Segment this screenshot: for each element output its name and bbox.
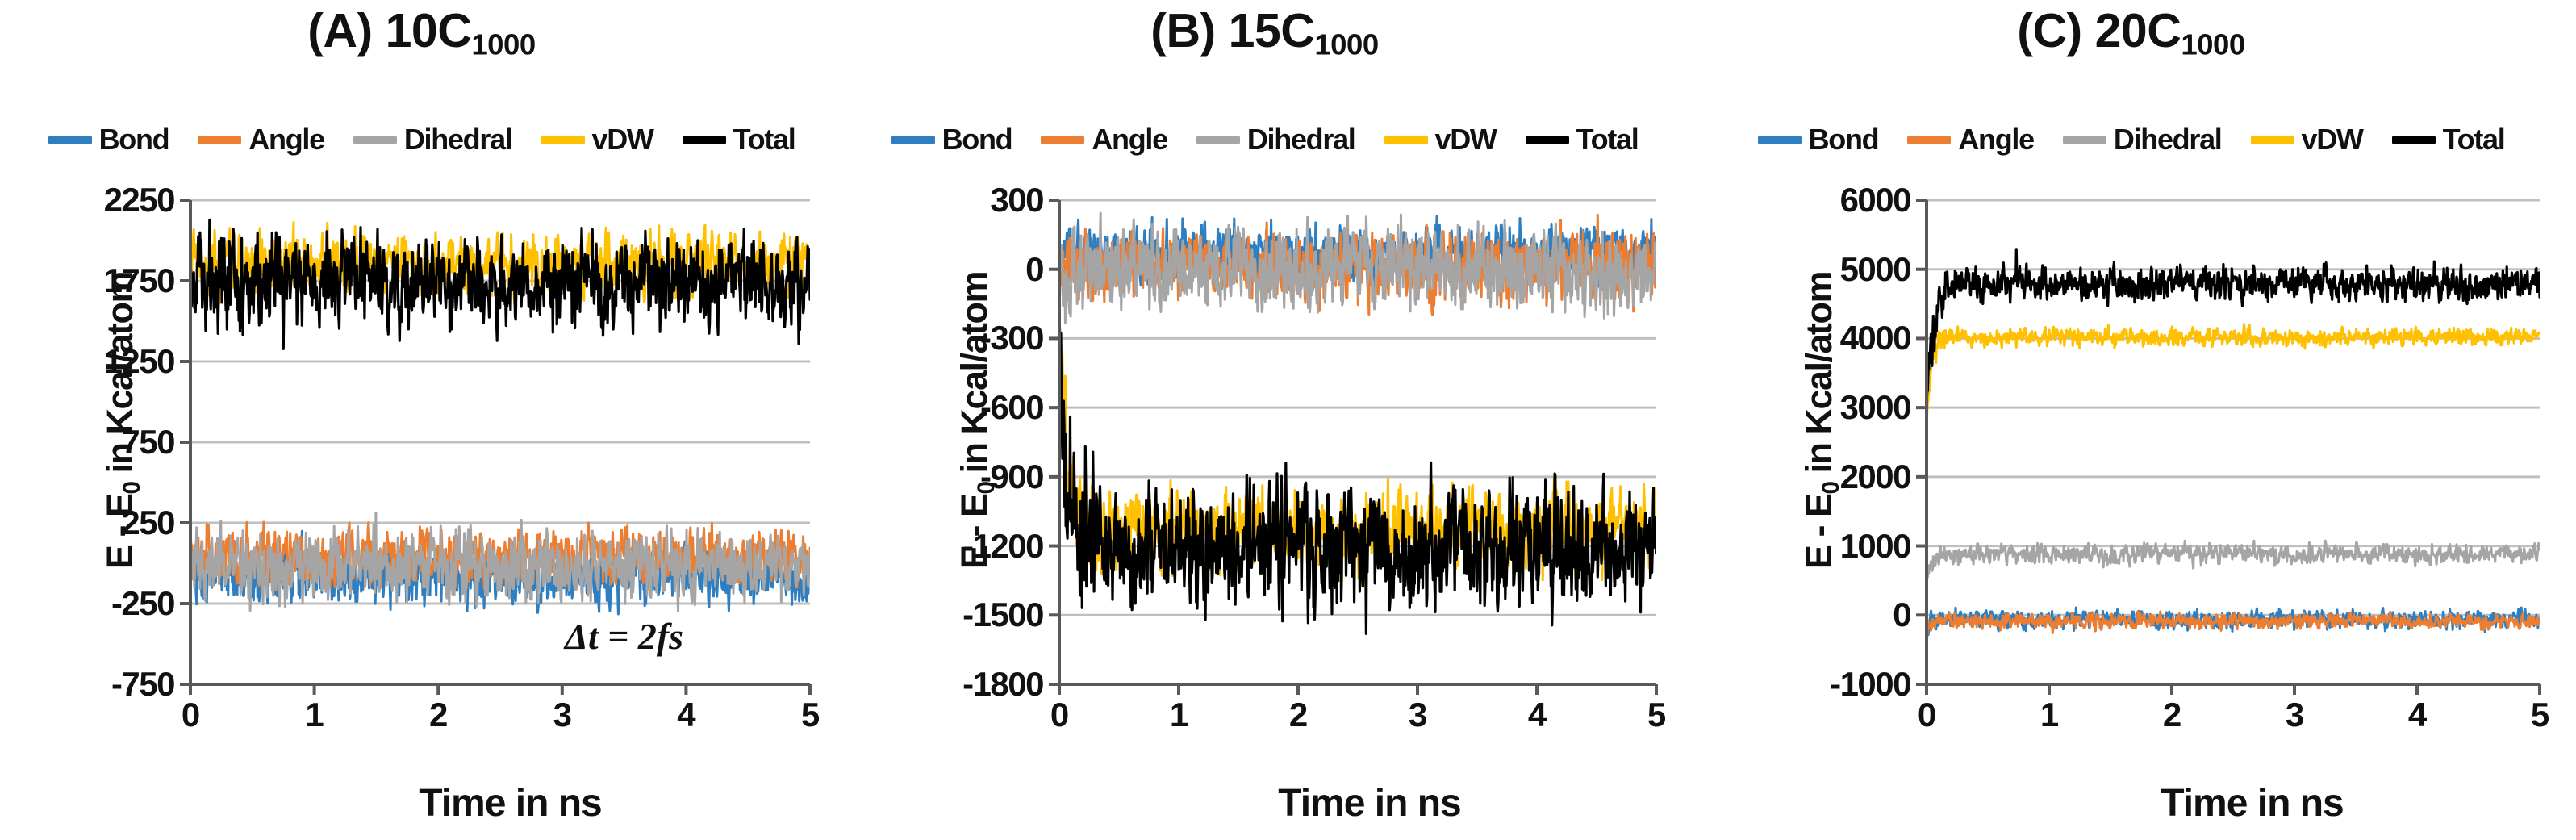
y-tick-label: 4000 (1840, 319, 1910, 357)
legend-panel-c: Bond Angle Dihedral vDW Total (1686, 123, 2576, 157)
y-tick-label: -250 (111, 584, 174, 623)
x-tick-label: 4 (1528, 696, 1546, 734)
plot-canvas-A (190, 200, 810, 684)
plot-canvas-B (1059, 200, 1656, 684)
legend-label-angle: Angle (248, 123, 324, 157)
legend-label-dihedral: Dihedral (1247, 123, 1355, 157)
legend-swatch-angle-icon (1907, 136, 1951, 144)
x-tick-label: 4 (677, 696, 695, 734)
panel-a-x-axis-label: Time in ns (0, 781, 932, 825)
x-tick-label: 4 (2408, 696, 2426, 734)
panel-b-title-subscript: 1000 (1314, 28, 1378, 61)
panel-a-y-ticks: 225017501250750250-250-750 (16, 200, 174, 684)
legend-item-vdw: vDW (541, 123, 653, 157)
legend-swatch-total-icon (2392, 136, 2436, 144)
legend-panel-a: Bond Angle Dihedral vDW Total (0, 123, 843, 157)
legend-swatch-vdw-icon (2251, 136, 2294, 144)
legend-item-bond: Bond (1758, 123, 1879, 157)
legend-label-angle: Angle (1958, 123, 2034, 157)
plot-canvas-C (1927, 200, 2540, 684)
panel-c-x-ticks: 012345 (1927, 696, 2540, 744)
legend-label-bond: Bond (1809, 123, 1879, 157)
y-tick-label: -1800 (962, 665, 1043, 704)
series-line-vdw (1927, 324, 2540, 419)
legend-swatch-total-icon (683, 136, 726, 144)
legend-swatch-dihedral-icon (353, 136, 397, 144)
legend-item-angle: Angle (1041, 123, 1167, 157)
x-tick-label: 5 (1647, 696, 1665, 734)
x-tick-label: 5 (2531, 696, 2549, 734)
legend-label-vdw: vDW (2302, 123, 2363, 157)
legend-swatch-total-icon (1526, 136, 1569, 144)
figure-root: (A) 10C1000 Bond Angle Dihedral vDW Tota… (0, 0, 2576, 840)
x-tick-label: 2 (429, 696, 447, 734)
panel-b-plot-area (1059, 200, 1656, 684)
legend-label-total: Total (733, 123, 795, 157)
y-tick-label: 750 (121, 423, 174, 462)
x-tick-label: 1 (305, 696, 323, 734)
legend-swatch-vdw-icon (541, 136, 585, 144)
panel-b-x-ticks: 012345 (1059, 696, 1656, 744)
panel-b: (B) 15C1000 Bond Angle Dihedral vDW Tota… (843, 0, 1686, 840)
legend-panel-b: Bond Angle Dihedral vDW Total (843, 123, 1686, 157)
y-tick-label: -600 (980, 388, 1043, 427)
legend-item-total: Total (683, 123, 795, 157)
legend-swatch-bond-icon (48, 136, 92, 144)
y-tick-label: 0 (1893, 596, 1910, 634)
legend-label-dihedral: Dihedral (2114, 123, 2222, 157)
panel-b-y-ticks: 3000-300-600-900-1200-1500-1800 (880, 200, 1043, 684)
legend-item-angle: Angle (1907, 123, 2034, 157)
legend-swatch-bond-icon (1758, 136, 1802, 144)
legend-item-dihedral: Dihedral (353, 123, 512, 157)
legend-label-bond: Bond (99, 123, 169, 157)
panel-c-title-subscript: 1000 (2181, 28, 2244, 61)
legend-item-dihedral: Dihedral (1196, 123, 1355, 157)
x-tick-label: 5 (801, 696, 819, 734)
y-tick-label: 2000 (1840, 458, 1910, 496)
legend-item-angle: Angle (198, 123, 324, 157)
panel-c-title: (C) 20C1000 (1686, 3, 2576, 62)
panel-c-y-ticks: 6000500040003000200010000-1000 (1739, 200, 1910, 684)
y-tick-label: 250 (121, 504, 174, 542)
legend-label-vdw: vDW (1435, 123, 1497, 157)
legend-swatch-dihedral-icon (2063, 136, 2106, 144)
x-tick-label: 3 (553, 696, 571, 734)
series-line-dihedral (1059, 213, 1656, 323)
x-tick-label: 0 (182, 696, 199, 734)
legend-swatch-vdw-icon (1384, 136, 1428, 144)
y-tick-label: -750 (111, 665, 174, 704)
legend-item-bond: Bond (891, 123, 1012, 157)
x-tick-label: 1 (1170, 696, 1188, 734)
y-tick-label: 0 (1025, 250, 1043, 289)
legend-label-angle: Angle (1092, 123, 1167, 157)
panel-c-title-text: (C) 20C (2017, 4, 2181, 57)
legend-swatch-dihedral-icon (1196, 136, 1240, 144)
y-tick-label: 5000 (1840, 250, 1910, 289)
x-tick-label: 0 (1918, 696, 1935, 734)
y-tick-label: 6000 (1840, 181, 1910, 219)
y-tick-label: -1200 (962, 527, 1043, 566)
panel-a-timestep-annotation: Δt = 2fs (565, 615, 683, 658)
legend-item-total: Total (1526, 123, 1639, 157)
panel-a: (A) 10C1000 Bond Angle Dihedral vDW Tota… (0, 0, 843, 840)
legend-item-vdw: vDW (2251, 123, 2363, 157)
legend-label-total: Total (1576, 123, 1639, 157)
legend-label-total: Total (2443, 123, 2505, 157)
y-tick-label: 300 (990, 181, 1043, 219)
x-tick-label: 2 (1289, 696, 1307, 734)
y-tick-label: 1000 (1840, 527, 1910, 566)
x-tick-label: 0 (1050, 696, 1068, 734)
y-tick-label: 1250 (104, 342, 174, 381)
x-tick-label: 3 (2286, 696, 2303, 734)
legend-swatch-angle-icon (1041, 136, 1084, 144)
legend-label-dihedral: Dihedral (404, 123, 512, 157)
panel-a-x-ticks: 012345 (190, 696, 810, 744)
panel-a-title-subscript: 1000 (471, 28, 535, 61)
y-tick-label: 2250 (104, 181, 174, 219)
x-tick-label: 2 (2163, 696, 2181, 734)
legend-label-bond: Bond (942, 123, 1012, 157)
y-tick-label: -1000 (1830, 665, 1910, 704)
panel-c: (C) 20C1000 Bond Angle Dihedral vDW Tota… (1686, 0, 2576, 840)
legend-swatch-bond-icon (891, 136, 935, 144)
series-line-dihedral (1927, 541, 2540, 591)
y-tick-label: -1500 (962, 596, 1043, 634)
panel-a-title-text: (A) 10C (307, 4, 471, 57)
series-line-total (1059, 317, 1656, 634)
panel-a-title: (A) 10C1000 (0, 3, 843, 62)
legend-item-vdw: vDW (1384, 123, 1497, 157)
y-tick-label: -300 (980, 319, 1043, 357)
x-tick-label: 1 (2040, 696, 2058, 734)
series-line-total (190, 219, 810, 349)
panel-b-title: (B) 15C1000 (843, 3, 1686, 62)
panel-b-title-text: (B) 15C (1150, 4, 1314, 57)
panel-c-plot-area (1927, 200, 2540, 684)
y-tick-label: 1750 (104, 261, 174, 300)
legend-label-vdw: vDW (592, 123, 653, 157)
panel-c-x-axis-label: Time in ns (1686, 781, 2576, 825)
y-tick-label: 3000 (1840, 388, 1910, 427)
legend-swatch-angle-icon (198, 136, 241, 144)
panel-b-x-axis-label: Time in ns (843, 781, 1791, 825)
legend-item-bond: Bond (48, 123, 169, 157)
y-tick-label: -900 (980, 458, 1043, 496)
x-tick-label: 3 (1409, 696, 1426, 734)
legend-item-total: Total (2392, 123, 2505, 157)
series-line-total (1927, 249, 2540, 405)
legend-item-dihedral: Dihedral (2063, 123, 2222, 157)
panel-a-plot-area (190, 200, 810, 684)
